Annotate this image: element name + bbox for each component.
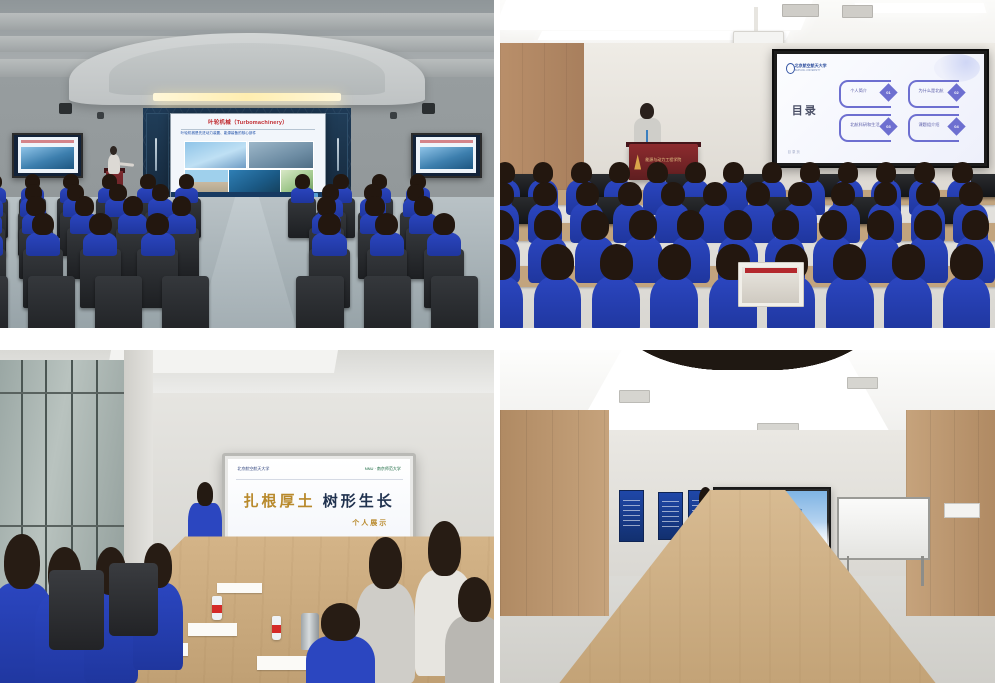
speaker-box-left <box>59 103 72 114</box>
student-head <box>576 182 600 207</box>
photo-lecture-hall: 叶轮机械（Turbomachinery） 叶轮机械是先进动力装置、能源装备的核心… <box>0 0 494 328</box>
attendee-head <box>89 213 112 235</box>
paper-document <box>217 583 261 593</box>
student-head <box>703 182 727 207</box>
student-head <box>800 162 821 183</box>
attendee-head <box>458 577 491 622</box>
student-head <box>876 162 897 183</box>
student-head <box>534 210 562 240</box>
lecturer-arm <box>118 163 133 167</box>
attendee-head <box>152 184 169 201</box>
slide-divider <box>236 479 403 480</box>
attendee-head <box>428 521 461 576</box>
paper-document <box>188 623 237 636</box>
air-vent <box>619 390 651 403</box>
student-head <box>647 162 668 183</box>
logo-nnu: NNU · 南京师范大学 <box>365 466 401 472</box>
seat <box>0 276 8 328</box>
water-bottle <box>272 616 281 639</box>
side-monitor-right <box>411 133 482 178</box>
student-head <box>819 210 847 240</box>
laptop-screen-banner <box>745 268 797 273</box>
toc-item-3: 北航科研和生活 03 <box>839 114 889 138</box>
student-shirt <box>884 276 932 328</box>
toc-number-badge: 03 <box>879 117 897 135</box>
student-head <box>916 182 940 207</box>
photo-collage: 叶轮机械（Turbomachinery） 叶轮机械是先进动力装置、能源装备的核心… <box>0 0 995 683</box>
attendee <box>306 636 375 683</box>
toc-label: 为什么是北航 <box>918 88 943 94</box>
stage-light-strip-right <box>337 138 340 171</box>
speaker-box-right <box>422 103 435 114</box>
attendee-head <box>123 196 142 215</box>
side-monitor-content <box>18 137 78 173</box>
student-head <box>677 210 705 240</box>
student-head <box>571 162 592 183</box>
slide-decoration <box>934 54 980 82</box>
student-head <box>724 210 752 240</box>
slide-title: 扎根厚土 树形生长 <box>228 490 410 511</box>
student-head <box>952 162 973 183</box>
student-head <box>833 244 866 280</box>
stage-light-strip-left <box>155 138 158 171</box>
student-shirt <box>650 276 698 328</box>
chair-back <box>49 570 103 650</box>
wall-camera-right <box>390 112 397 119</box>
student-head <box>533 162 554 183</box>
logo-ring <box>786 63 795 74</box>
toc-number-badge: 01 <box>879 83 897 101</box>
attendee-shirt <box>427 232 461 257</box>
student-head <box>788 182 812 207</box>
seat <box>28 276 75 328</box>
seat <box>162 276 209 328</box>
seat <box>296 276 343 328</box>
student-head <box>874 182 898 207</box>
attendee-head <box>433 213 456 235</box>
slide-title-part1: 扎根厚土 <box>244 493 316 510</box>
toc-number: 02 <box>950 86 963 99</box>
attendee-head <box>414 196 433 215</box>
student-head <box>772 210 800 240</box>
student-head <box>723 162 744 183</box>
slide-photo-fighter-jet <box>184 141 247 169</box>
ceiling-light-panel <box>500 0 813 30</box>
toc-number-badge: 04 <box>947 117 965 135</box>
podium-emblem <box>634 154 641 169</box>
attendee-head <box>179 174 194 189</box>
university-logo: 北京航空航天大学 BEIHANG UNIVERSITY <box>786 62 832 75</box>
slide-divider <box>181 129 316 130</box>
student-head <box>629 210 657 240</box>
attendee-shirt <box>370 232 404 257</box>
student-head <box>658 244 691 280</box>
chair-back <box>109 563 158 636</box>
slide-subtitle: 个人展示 <box>352 518 388 528</box>
attendee-head <box>109 184 126 201</box>
student-head <box>609 162 630 183</box>
student-shirt <box>592 276 640 328</box>
attendee-shirt <box>291 187 314 204</box>
student-head <box>831 182 855 207</box>
student-head <box>959 182 983 207</box>
student-shirt <box>826 276 874 328</box>
seat <box>431 276 478 328</box>
slide-photo-gas-turbine <box>228 169 281 193</box>
student-head <box>581 210 609 240</box>
university-name-en: BEIHANG UNIVERSITY <box>795 69 821 72</box>
frame-rail <box>0 392 133 394</box>
slide-toc: 北京航空航天大学 BEIHANG UNIVERSITY 目录 个人简介 01 为… <box>777 54 984 163</box>
lecturer <box>108 154 120 174</box>
wall-camera-left <box>97 112 104 119</box>
air-vent <box>842 5 874 17</box>
seat <box>364 276 411 328</box>
attendee <box>445 616 494 683</box>
student-head <box>962 210 990 240</box>
photo-meeting-presentation: 北京航空航天大学 NNU · 南京师范大学 扎根厚土 树形生长 个人展示 汇报人… <box>0 350 494 683</box>
photo-classroom-toc: 北京航空航天大学 BEIHANG UNIVERSITY 目录 个人简介 01 为… <box>500 0 995 328</box>
attendee-head <box>146 213 169 235</box>
student-head <box>746 182 770 207</box>
stage-light-bar <box>153 93 341 101</box>
slide-heading: 目录 <box>792 102 818 118</box>
toc-item-2: 为什么是北航 02 <box>908 80 958 104</box>
toc-number: 01 <box>882 86 895 99</box>
open-laptop <box>738 262 804 307</box>
wood-wall-left <box>500 410 609 616</box>
toc-label: 北航科研和生活 <box>850 122 879 128</box>
podium-text: 能源与动力工程学院 <box>645 157 681 163</box>
water-bottle <box>212 596 221 619</box>
student-head <box>661 182 685 207</box>
side-monitor-left <box>12 133 83 178</box>
air-vent <box>782 4 819 17</box>
slide-footer-label: 目录页 <box>788 149 801 154</box>
attendee-shirt <box>26 232 60 257</box>
seat <box>95 276 142 328</box>
slide-title-part2: 树形生长 <box>323 493 395 510</box>
student-head <box>762 162 783 183</box>
frame-rail <box>0 525 133 527</box>
student-head <box>892 244 925 280</box>
toc-label: 个人简介 <box>850 88 867 94</box>
student-head <box>914 210 942 240</box>
attendee-head <box>4 534 40 589</box>
attendee-head <box>75 196 94 215</box>
attendee-head <box>295 174 310 189</box>
student-head <box>618 182 642 207</box>
side-monitor-content <box>416 137 476 173</box>
logo-beihang: 北京航空航天大学 <box>237 466 269 472</box>
attendee-shirt <box>83 232 117 257</box>
student-head <box>867 210 895 240</box>
slide-bullet: 叶轮机械是先进动力装置、能源装备的核心部件 <box>181 131 319 136</box>
student-shirt <box>943 276 991 328</box>
attendee-head <box>318 213 341 235</box>
toc-item-1: 个人简介 01 <box>839 80 889 104</box>
projector-mount <box>754 7 757 33</box>
mullion <box>45 360 47 626</box>
toc-number: 04 <box>950 120 963 133</box>
student-head <box>533 182 557 207</box>
toc-label: 课题组介绍 <box>918 122 939 128</box>
slide-photo-aircraft-carrier <box>248 141 314 169</box>
whiteboard <box>837 497 930 561</box>
wall-poster <box>619 490 644 542</box>
ceiling-light-strip <box>855 3 987 13</box>
attendee-head <box>321 603 360 641</box>
student-head <box>685 162 706 183</box>
toc-number-badge: 02 <box>947 83 965 101</box>
wall-band <box>0 13 494 29</box>
slide-title: 叶轮机械（Turbomachinery） <box>171 118 324 126</box>
wall-sign <box>944 503 981 518</box>
attendee-shirt <box>312 232 346 257</box>
attendee-head <box>32 213 55 235</box>
air-vent <box>847 377 879 389</box>
student-shirt <box>534 276 582 328</box>
attendee-head <box>172 196 191 215</box>
student-head <box>600 244 633 280</box>
whiteboard-leg <box>921 556 924 586</box>
attendee-shirt <box>141 232 175 257</box>
toc-item-4: 课题组介绍 04 <box>908 114 958 138</box>
toc-number: 03 <box>882 120 895 133</box>
attendee-head <box>375 213 398 235</box>
laptop-screen <box>742 267 799 303</box>
projection-screen: 北京航空航天大学 BEIHANG UNIVERSITY 目录 个人简介 01 为… <box>772 49 989 168</box>
attendee-shirt <box>118 213 147 234</box>
photo-meeting-exchange: 夏令营营员展示交流 交流 · 展示 <box>500 350 995 683</box>
student-head <box>541 244 574 280</box>
student-head <box>950 244 983 280</box>
student-head <box>914 162 935 183</box>
attendee-head <box>369 537 402 589</box>
student-head <box>838 162 859 183</box>
attendee-shirt <box>167 213 196 234</box>
